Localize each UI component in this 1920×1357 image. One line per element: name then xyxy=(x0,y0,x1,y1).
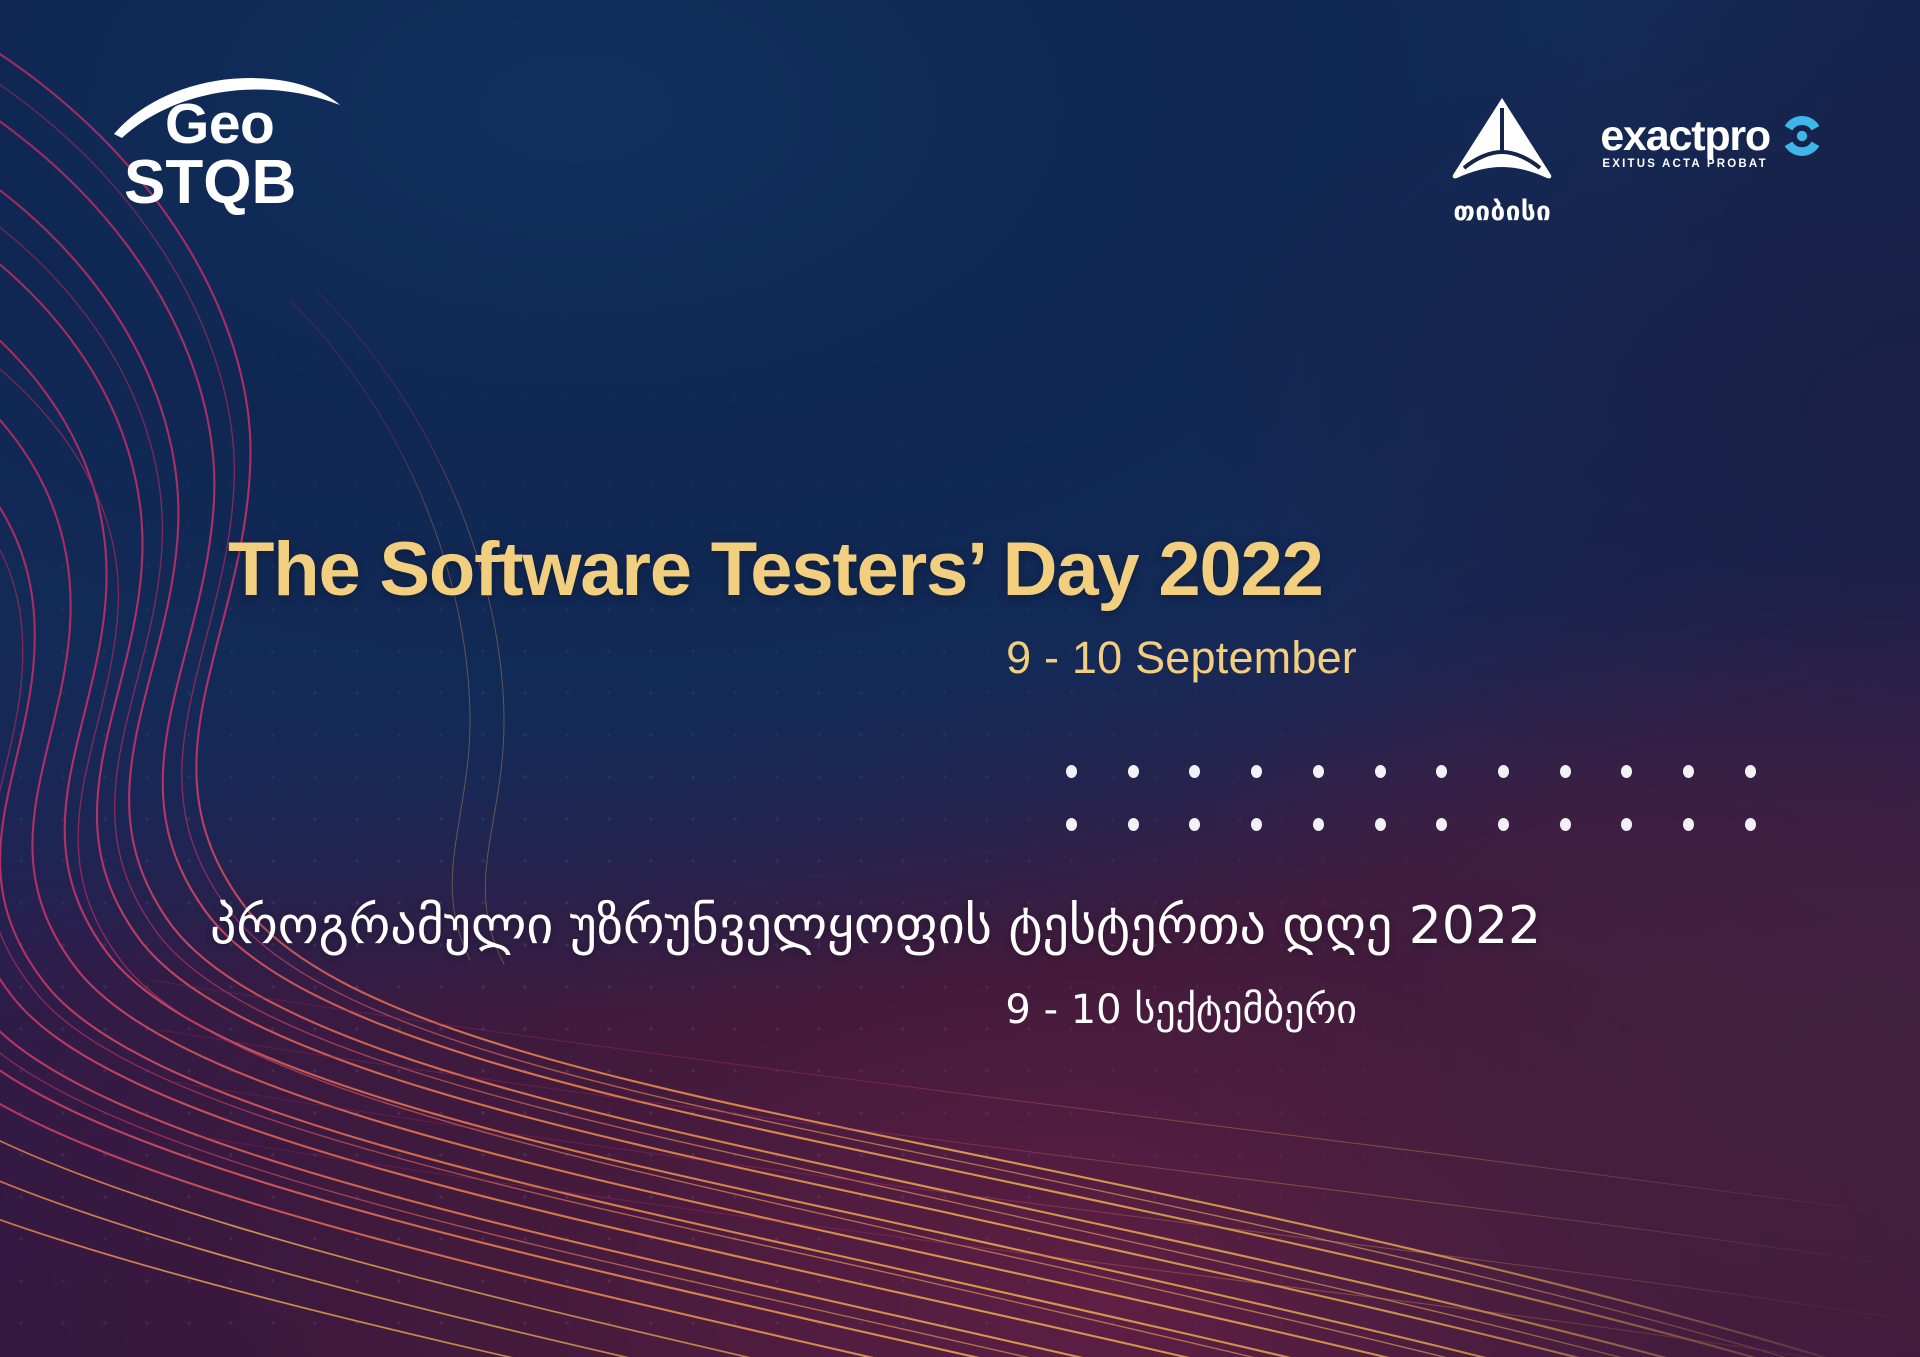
dot xyxy=(1560,765,1571,778)
event-title-georgian: პროგრამული უზრუნველყოფის ტესტერთა დღე 20… xyxy=(210,900,1541,952)
event-date-english: 9 - 10 September xyxy=(1006,635,1357,680)
event-poster: Geo STQB თიბისი exactpro EXITUS ACTA PRO… xyxy=(0,0,1920,1357)
dot xyxy=(1066,818,1077,831)
dot xyxy=(1251,818,1262,831)
dot xyxy=(1683,765,1694,778)
dot xyxy=(1621,818,1632,831)
dot xyxy=(1128,818,1139,831)
poster-content: The Software Testers’ Day 2022 9 - 10 Se… xyxy=(0,0,1920,1357)
dot xyxy=(1560,818,1571,831)
dot xyxy=(1498,818,1509,831)
dot xyxy=(1066,765,1077,778)
dot xyxy=(1621,765,1632,778)
dot xyxy=(1436,818,1447,831)
dot xyxy=(1189,765,1200,778)
dot xyxy=(1683,818,1694,831)
dot xyxy=(1313,818,1324,831)
dot xyxy=(1375,818,1386,831)
dot xyxy=(1128,765,1139,778)
decorative-dot-row-1 xyxy=(1066,765,1756,778)
dot xyxy=(1745,818,1756,831)
dot xyxy=(1313,765,1324,778)
event-title-english: The Software Testers’ Day 2022 xyxy=(228,532,1323,608)
decorative-dot-row-2 xyxy=(1066,818,1756,831)
dot xyxy=(1436,765,1447,778)
dot xyxy=(1375,765,1386,778)
dot xyxy=(1745,765,1756,778)
event-date-georgian: 9 - 10 სექტემბერი xyxy=(1005,990,1357,1030)
dot xyxy=(1498,765,1509,778)
dot xyxy=(1251,765,1262,778)
dot xyxy=(1189,818,1200,831)
